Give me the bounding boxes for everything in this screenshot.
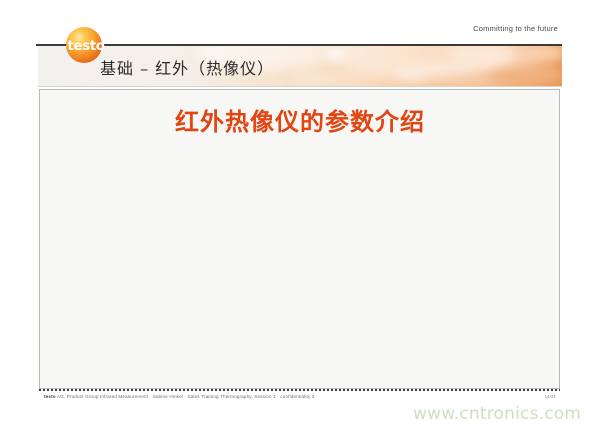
cloud-texture-icon — [326, 46, 516, 76]
footer-credit-text: AG, Product Group Infrared Measurement ·… — [57, 394, 315, 399]
logo-wordmark: testo — [60, 40, 112, 53]
page-title: 红外热像仪的参数介绍 — [38, 102, 562, 137]
slide-title: 基础 – 红外（热像仪） — [100, 55, 274, 79]
cloud-texture-icon — [394, 60, 562, 86]
cloud-texture-icon — [489, 66, 562, 86]
slide-header: Committing to the future — [38, 18, 562, 44]
testo-logo: testo — [60, 27, 104, 71]
cloud-texture-icon — [447, 46, 562, 66]
screenshot-canvas: Committing to the future 基础 – 红外（热像仪） te… — [0, 0, 600, 424]
logo-rule-left — [36, 44, 62, 46]
cloud-texture-icon — [290, 68, 430, 86]
title-band-underline — [38, 86, 562, 87]
company-tagline: Committing to the future — [473, 24, 558, 33]
footer-page-number: 14/21 — [545, 394, 557, 399]
site-watermark: www.cntronics.com — [413, 404, 581, 424]
footer-dotted-divider — [39, 389, 560, 391]
footer-brand: testo — [44, 394, 56, 399]
footer-credit-line: testo AG, Product Group Infrared Measure… — [44, 394, 315, 399]
presentation-slide: Committing to the future 基础 – 红外（热像仪） te… — [38, 18, 562, 406]
